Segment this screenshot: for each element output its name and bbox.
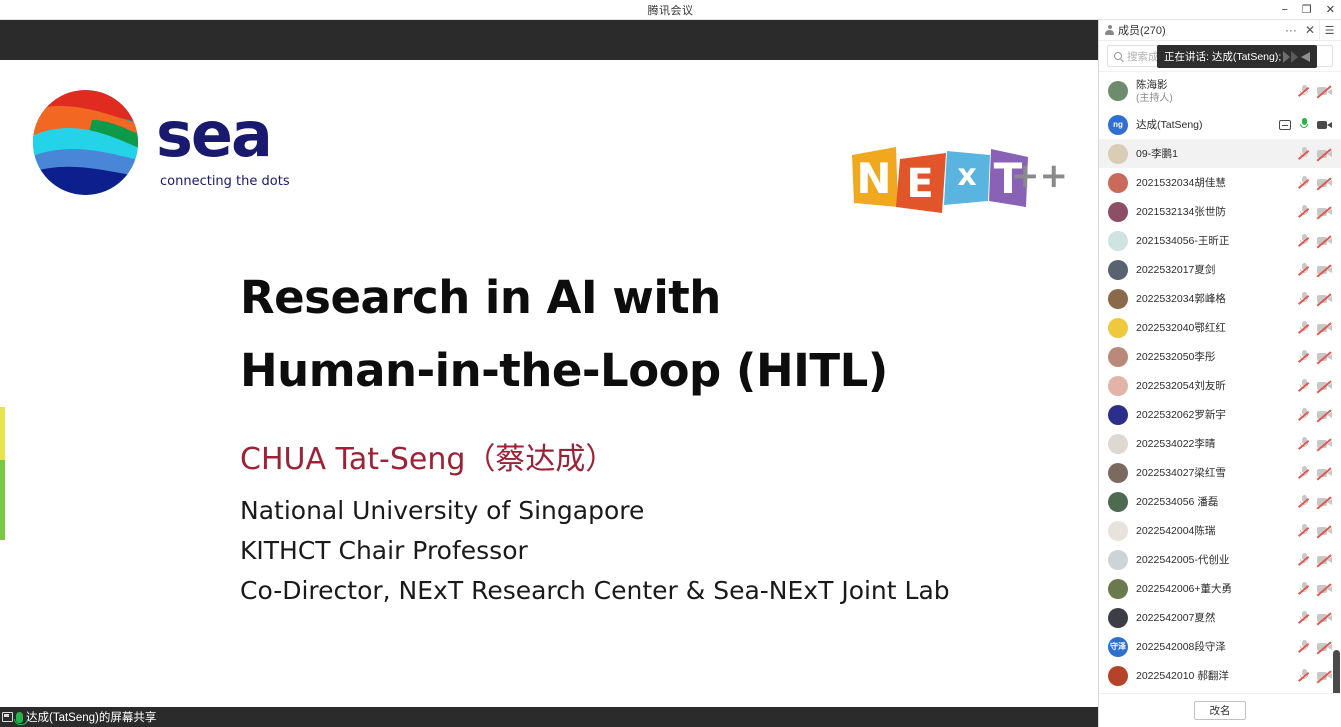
participant-controls bbox=[1300, 466, 1335, 479]
microphone-muted-icon[interactable] bbox=[1300, 669, 1308, 682]
participant-name: 2022534022李晴 bbox=[1136, 436, 1292, 451]
camera-off-icon[interactable] bbox=[1317, 236, 1332, 246]
participants-panel-footer: 改名 bbox=[1099, 693, 1341, 727]
avatar: ng bbox=[1108, 115, 1128, 135]
avatar bbox=[1108, 289, 1128, 309]
microphone-muted-icon[interactable] bbox=[1300, 553, 1308, 566]
participants-search-area: 搜索成员 正在讲话: 达成(TatSeng); bbox=[1099, 41, 1341, 71]
participant-name-block: 2021532134张世防 bbox=[1136, 204, 1292, 219]
camera-off-icon[interactable] bbox=[1317, 149, 1332, 159]
svg-text:x: x bbox=[957, 158, 976, 193]
collapse-arrow-icon bbox=[1301, 52, 1310, 62]
avatar bbox=[1108, 260, 1128, 280]
sea-tagline: connecting the dots bbox=[160, 174, 290, 189]
participant-controls bbox=[1300, 669, 1335, 682]
participant-name: 2021532134张世防 bbox=[1136, 204, 1292, 219]
microphone-muted-icon[interactable] bbox=[1300, 582, 1308, 595]
rename-button[interactable]: 改名 bbox=[1194, 701, 1246, 720]
participant-controls bbox=[1300, 524, 1335, 537]
minimize-button[interactable]: − bbox=[1279, 5, 1289, 16]
slide-title-line-1: Research in AI with bbox=[240, 262, 1070, 335]
microphone-muted-icon[interactable] bbox=[1300, 234, 1308, 247]
microphone-muted-icon[interactable] bbox=[1300, 350, 1308, 363]
participant-list[interactable]: 陈海影(主持人)ng达成(TatSeng)09-李鹏12021532034胡佳慧… bbox=[1099, 71, 1341, 693]
sea-globe-icon bbox=[32, 90, 139, 195]
microphone-muted-icon[interactable] bbox=[1300, 437, 1308, 450]
next-plus-plus-logo: N E x T ++ bbox=[850, 145, 1068, 215]
camera-off-icon[interactable] bbox=[1317, 468, 1332, 478]
participant-row[interactable]: 2022542007夏然 bbox=[1099, 603, 1341, 632]
microphone-muted-icon[interactable] bbox=[1300, 292, 1308, 305]
camera-off-icon[interactable] bbox=[1317, 642, 1332, 652]
participant-name: 2022534027梁红雪 bbox=[1136, 465, 1292, 480]
participant-row[interactable]: 2022532034郭峰格 bbox=[1099, 284, 1341, 313]
participant-name-block: 2022532054刘友昕 bbox=[1136, 378, 1292, 393]
microphone-muted-icon[interactable] bbox=[1300, 205, 1308, 218]
participant-name-block: 2022532034郭峰格 bbox=[1136, 291, 1292, 306]
participant-row[interactable]: 2022534022李晴 bbox=[1099, 429, 1341, 458]
slide-title-line-2: Human-in-the-Loop (HITL) bbox=[240, 335, 1070, 408]
participant-name: 2022542008段守泽 bbox=[1136, 639, 1292, 654]
participant-name-block: 达成(TatSeng) bbox=[1136, 117, 1271, 132]
participant-name: 2022532050李彤 bbox=[1136, 349, 1292, 364]
camera-off-icon[interactable] bbox=[1317, 86, 1332, 96]
avatar bbox=[1108, 405, 1128, 425]
participant-controls bbox=[1300, 640, 1335, 653]
presenter-affiliation-3: Co-Director, NExT Research Center & Sea-… bbox=[240, 571, 1070, 611]
participant-name-block: 2022532040鄂红红 bbox=[1136, 320, 1292, 335]
participant-name: 2022532054刘友昕 bbox=[1136, 378, 1292, 393]
camera-off-icon[interactable] bbox=[1317, 178, 1332, 188]
avatar bbox=[1108, 434, 1128, 454]
participant-name-block: 2022542005-代创业 bbox=[1136, 552, 1292, 567]
speaker-wave-icon bbox=[1283, 51, 1310, 63]
avatar bbox=[1108, 173, 1128, 193]
participant-controls bbox=[1300, 582, 1335, 595]
camera-off-icon[interactable] bbox=[1317, 381, 1332, 391]
camera-off-icon[interactable] bbox=[1317, 265, 1332, 275]
participant-name: 2022542006+董大勇 bbox=[1136, 581, 1292, 596]
presentation-slide: sea connecting the dots N E x T ++ Resea… bbox=[0, 60, 1098, 727]
participant-row[interactable]: 2022532050李彤 bbox=[1099, 342, 1341, 371]
slide-subtitle-block: CHUA Tat-Seng（蔡达成） National University o… bbox=[240, 440, 1070, 611]
microphone-muted-icon[interactable] bbox=[1300, 611, 1308, 624]
microphone-muted-icon[interactable] bbox=[1300, 263, 1308, 276]
participant-controls bbox=[1300, 292, 1335, 305]
participant-row[interactable]: 2022532017夏剑 bbox=[1099, 255, 1341, 284]
shared-screen-stage: sea connecting the dots N E x T ++ Resea… bbox=[0, 20, 1098, 727]
screen-share-icon bbox=[2, 712, 13, 722]
avatar bbox=[1108, 492, 1128, 512]
microphone-muted-icon[interactable] bbox=[1300, 176, 1308, 189]
microphone-muted-icon[interactable] bbox=[1300, 466, 1308, 479]
presenter-affiliation-1: National University of Singapore bbox=[240, 491, 1070, 531]
participant-row[interactable]: 守泽2022542008段守泽 bbox=[1099, 632, 1341, 661]
avatar bbox=[1108, 318, 1128, 338]
participant-row[interactable]: 2022542006+董大勇 bbox=[1099, 574, 1341, 603]
participant-name: 2021532034胡佳慧 bbox=[1136, 175, 1292, 190]
close-button[interactable]: ✕ bbox=[1324, 5, 1337, 16]
participant-row[interactable]: 2022542010 郝翻洋 bbox=[1099, 661, 1341, 690]
participant-row[interactable]: 2021532134张世防 bbox=[1099, 197, 1341, 226]
participant-name: 2022542005-代创业 bbox=[1136, 552, 1292, 567]
camera-off-icon[interactable] bbox=[1317, 497, 1332, 507]
svg-text:E: E bbox=[906, 161, 933, 207]
avatar bbox=[1108, 579, 1128, 599]
avatar bbox=[1108, 347, 1128, 367]
participant-row[interactable]: 2021534056-王昕正 bbox=[1099, 226, 1341, 255]
camera-off-icon[interactable] bbox=[1317, 584, 1332, 594]
participant-controls bbox=[1300, 350, 1335, 363]
participant-name: 2022542010 郝翻洋 bbox=[1136, 668, 1292, 683]
presenter-name: CHUA Tat-Seng（蔡达成） bbox=[240, 440, 1070, 481]
camera-off-icon[interactable] bbox=[1317, 613, 1332, 623]
screen-share-status-bar: 达成(TatSeng)的屏幕共享 bbox=[0, 707, 1098, 727]
person-icon bbox=[1105, 25, 1114, 35]
microphone-muted-icon[interactable] bbox=[1300, 495, 1308, 508]
participant-row[interactable]: 2022534027梁红雪 bbox=[1099, 458, 1341, 487]
avatar bbox=[1108, 144, 1128, 164]
participants-panel: 成员(270) ··· ✕ ☰ 搜索成员 正在讲话: 达成(TatSeng); … bbox=[1098, 20, 1341, 727]
participant-name: 2022532062罗新宇 bbox=[1136, 407, 1292, 422]
participant-controls bbox=[1300, 205, 1335, 218]
participant-row[interactable]: 2022532054刘友昕 bbox=[1099, 371, 1341, 400]
svg-text:N: N bbox=[856, 154, 891, 203]
participant-name-block: 2022542007夏然 bbox=[1136, 610, 1292, 625]
camera-off-icon[interactable] bbox=[1317, 352, 1332, 362]
avatar bbox=[1108, 521, 1128, 541]
participant-controls bbox=[1300, 437, 1335, 450]
participant-name-block: 2022534027梁红雪 bbox=[1136, 465, 1292, 480]
participant-controls bbox=[1300, 321, 1335, 334]
participant-controls bbox=[1300, 379, 1335, 392]
participant-name: 2022532040鄂红红 bbox=[1136, 320, 1292, 335]
search-icon bbox=[1114, 52, 1122, 60]
slide-left-edge-strip bbox=[0, 60, 5, 727]
participant-role: (主持人) bbox=[1136, 92, 1292, 106]
participant-name-block: 2022542006+董大勇 bbox=[1136, 581, 1292, 596]
avatar bbox=[1108, 231, 1128, 251]
panel-close-button[interactable]: ✕ bbox=[1301, 24, 1319, 36]
avatar bbox=[1108, 666, 1128, 686]
camera-off-icon[interactable] bbox=[1317, 207, 1332, 217]
participant-name-block: 2022534056 潘磊 bbox=[1136, 494, 1292, 509]
camera-off-icon[interactable] bbox=[1317, 323, 1332, 333]
camera-icon[interactable] bbox=[1317, 120, 1332, 130]
participant-name: 2022532034郭峰格 bbox=[1136, 291, 1292, 306]
camera-off-icon[interactable] bbox=[1317, 526, 1332, 536]
participant-controls bbox=[1300, 147, 1335, 160]
participant-name-block: 2021534056-王昕正 bbox=[1136, 233, 1292, 248]
avatar bbox=[1108, 81, 1128, 101]
sea-logo: sea connecting the dots bbox=[32, 90, 292, 195]
microphone-muted-icon[interactable] bbox=[1300, 408, 1308, 421]
next-logo-suffix: ++ bbox=[1011, 159, 1068, 193]
participant-name-block: 2022542010 郝翻洋 bbox=[1136, 668, 1292, 683]
participant-controls bbox=[1300, 176, 1335, 189]
presenter-affiliation-2: KITHCT Chair Professor bbox=[240, 531, 1070, 571]
participant-controls bbox=[1300, 234, 1335, 247]
microphone-muted-icon[interactable] bbox=[1300, 640, 1308, 653]
camera-off-icon[interactable] bbox=[1317, 294, 1332, 304]
participant-name: 2022532017夏剑 bbox=[1136, 262, 1292, 277]
participant-list-scrollbar[interactable] bbox=[1333, 650, 1340, 693]
participant-name: 2021534056-王昕正 bbox=[1136, 233, 1292, 248]
participant-name-block: 09-李鹏1 bbox=[1136, 146, 1292, 161]
camera-off-icon[interactable] bbox=[1317, 555, 1332, 565]
microphone-muted-icon[interactable] bbox=[1300, 147, 1308, 160]
panel-more-button[interactable]: ··· bbox=[1281, 24, 1301, 36]
participant-name-block: 2022542008段守泽 bbox=[1136, 639, 1292, 654]
participant-name: 达成(TatSeng) bbox=[1136, 117, 1271, 132]
participant-controls bbox=[1300, 263, 1335, 276]
screen-share-status-text: 达成(TatSeng)的屏幕共享 bbox=[26, 709, 156, 725]
participant-name-block: 2022532062罗新宇 bbox=[1136, 407, 1292, 422]
avatar bbox=[1108, 550, 1128, 570]
participant-row[interactable]: 2022534056 潘磊 bbox=[1099, 487, 1341, 516]
participant-row[interactable]: 2021532034胡佳慧 bbox=[1099, 168, 1341, 197]
camera-off-icon[interactable] bbox=[1317, 439, 1332, 449]
participant-name: 陈海影 bbox=[1136, 77, 1292, 92]
participant-row[interactable]: 2022542004陈瑞 bbox=[1099, 516, 1341, 545]
active-speaker-toast: 正在讲话: 达成(TatSeng); bbox=[1157, 45, 1317, 68]
avatar bbox=[1108, 202, 1128, 222]
participant-name-block: 2022532050李彤 bbox=[1136, 349, 1292, 364]
participant-name-block: 2022542004陈瑞 bbox=[1136, 523, 1292, 538]
participant-name-block: 2022534022李晴 bbox=[1136, 436, 1292, 451]
participant-controls bbox=[1300, 85, 1335, 98]
participant-name-block: 2022532017夏剑 bbox=[1136, 262, 1292, 277]
avatar: 守泽 bbox=[1108, 637, 1128, 657]
participant-controls bbox=[1300, 553, 1335, 566]
avatar bbox=[1108, 376, 1128, 396]
sea-wordmark: sea bbox=[156, 104, 271, 166]
participant-name: 2022542007夏然 bbox=[1136, 610, 1292, 625]
screen-share-icon[interactable] bbox=[1279, 120, 1291, 130]
participant-row[interactable]: 2022542011胡翼洋 bbox=[1099, 690, 1341, 693]
participant-controls bbox=[1300, 408, 1335, 421]
participant-name: 09-李鹏1 bbox=[1136, 146, 1292, 161]
participant-row[interactable]: 09-李鹏1 bbox=[1099, 139, 1341, 168]
avatar bbox=[1108, 608, 1128, 628]
window-titlebar: 腾讯会议 − ❐ ✕ bbox=[0, 0, 1341, 20]
window-controls: − ❐ ✕ bbox=[1279, 0, 1337, 20]
microphone-muted-icon[interactable] bbox=[1300, 321, 1308, 334]
microphone-icon bbox=[16, 712, 23, 723]
participant-row[interactable]: 2022542005-代创业 bbox=[1099, 545, 1341, 574]
participant-name-block: 2021532034胡佳慧 bbox=[1136, 175, 1292, 190]
participant-row[interactable]: ng达成(TatSeng) bbox=[1099, 110, 1341, 139]
participants-count-title: 成员(270) bbox=[1118, 22, 1281, 38]
participant-controls bbox=[1279, 118, 1335, 131]
participant-name-block: 陈海影(主持人) bbox=[1136, 77, 1292, 106]
camera-off-icon[interactable] bbox=[1317, 671, 1332, 681]
microphone-muted-icon[interactable] bbox=[1300, 524, 1308, 537]
active-speaker-text: 正在讲话: 达成(TatSeng); bbox=[1164, 49, 1283, 64]
participant-controls bbox=[1300, 495, 1335, 508]
microphone-muted-icon[interactable] bbox=[1300, 379, 1308, 392]
window-title: 腾讯会议 bbox=[648, 2, 694, 18]
avatar bbox=[1108, 463, 1128, 483]
slide-title: Research in AI with Human-in-the-Loop (H… bbox=[240, 262, 1070, 408]
microphone-muted-icon[interactable] bbox=[1300, 85, 1308, 98]
participants-panel-header: 成员(270) ··· ✕ ☰ bbox=[1099, 20, 1341, 41]
participant-row[interactable]: 陈海影(主持人) bbox=[1099, 72, 1341, 110]
panel-menu-button[interactable]: ☰ bbox=[1319, 20, 1339, 41]
participant-row[interactable]: 2022532062罗新宇 bbox=[1099, 400, 1341, 429]
camera-off-icon[interactable] bbox=[1317, 410, 1332, 420]
participant-controls bbox=[1300, 611, 1335, 624]
participant-name: 2022534056 潘磊 bbox=[1136, 494, 1292, 509]
participant-row[interactable]: 2022532040鄂红红 bbox=[1099, 313, 1341, 342]
microphone-on-icon[interactable] bbox=[1300, 118, 1308, 131]
maximize-button[interactable]: ❐ bbox=[1300, 5, 1314, 16]
participant-name: 2022542004陈瑞 bbox=[1136, 523, 1292, 538]
